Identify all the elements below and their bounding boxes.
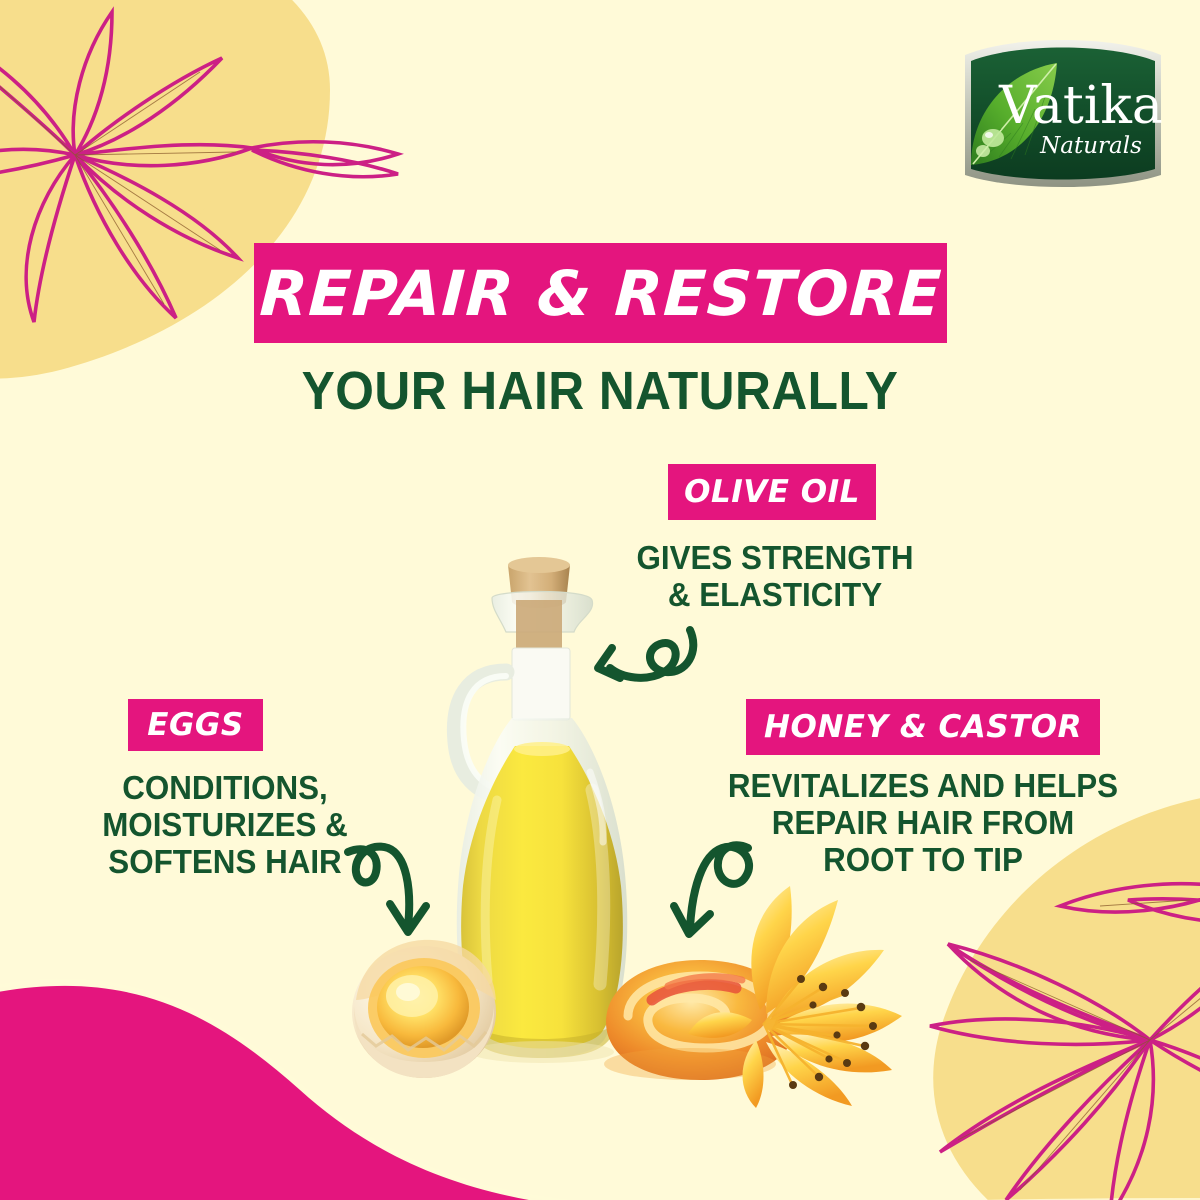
desc-honey-line-1: REVITALIZES AND HELPS [723, 768, 1124, 805]
headline-sub: YOUR HAIR NATURALLY [48, 360, 1152, 422]
product-imagery [0, 0, 1200, 1200]
badge-honey-castor-label: HONEY & CASTOR [764, 709, 1082, 745]
desc-eggs-line-2: MOISTURIZES & [68, 807, 382, 844]
desc-eggs-line-3: SOFTENS HAIR [68, 844, 382, 881]
desc-eggs: CONDITIONS, MOISTURIZES & SOFTENS HAIR [68, 770, 382, 881]
badge-honey-castor: HONEY & CASTOR [746, 699, 1100, 755]
badge-eggs-label: EGGS [147, 707, 243, 743]
poster-canvas: Vatika Naturals [0, 0, 1200, 1200]
badge-olive-oil: OLIVE OIL [668, 464, 876, 520]
headline-main: REPAIR & RESTORE [258, 257, 944, 330]
desc-olive-oil: GIVES STRENGTH & ELASTICITY [609, 540, 942, 614]
desc-eggs-line-1: CONDITIONS, [68, 770, 382, 807]
desc-honey-line-2: REPAIR HAIR FROM [723, 805, 1124, 842]
desc-honey-castor: REVITALIZES AND HELPS REPAIR HAIR FROM R… [723, 768, 1124, 879]
desc-honey-line-3: ROOT TO TIP [723, 842, 1124, 879]
desc-olive-line-2: & ELASTICITY [609, 577, 942, 614]
cracked-egg-icon [352, 940, 496, 1078]
desc-olive-line-1: GIVES STRENGTH [609, 540, 942, 577]
badge-olive-oil-label: OLIVE OIL [684, 474, 860, 510]
curly-arrow-left-icon [598, 630, 693, 678]
headline-banner: REPAIR & RESTORE [254, 243, 947, 343]
badge-eggs: EGGS [128, 699, 263, 751]
